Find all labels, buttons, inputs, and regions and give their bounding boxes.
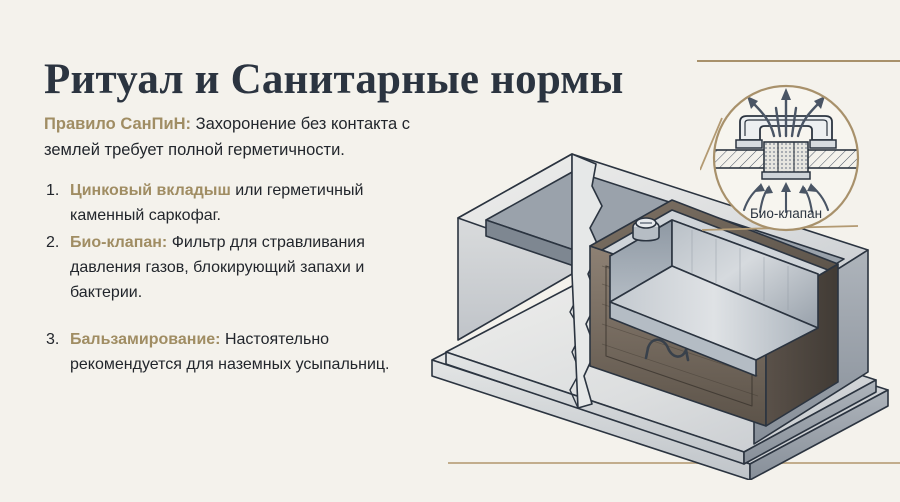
- bio-valve-label: Био-клапан: [750, 206, 822, 221]
- step-term: Цинковый вкладыш: [70, 182, 231, 199]
- valve-filter-cartridge: [762, 142, 810, 179]
- step-term: Био-клапан:: [70, 234, 167, 251]
- intro-lead: Правило СанПиН:: [44, 115, 191, 133]
- step-term: Бальзамирование:: [70, 331, 221, 348]
- list-item: Бальзамирование: Настоятельно рекомендуе…: [44, 328, 420, 378]
- list-item: Цинковый вкладыш или герметичный каменны…: [44, 179, 420, 229]
- bio-valve-detail-callout: Био-клапан: [700, 78, 878, 242]
- list-item: Био-клапан: Фильтр для стравливания давл…: [44, 231, 420, 306]
- slide-canvas: Ритуал и Санитарные нормы Правило СанПиН…: [0, 0, 900, 502]
- steps-list: Цинковый вкладыш или герметичный каменны…: [44, 179, 420, 378]
- bio-valve-fitting: [633, 218, 659, 241]
- text-column: Правило СанПиН: Захоронение без контакта…: [44, 112, 420, 380]
- intro-paragraph: Правило СанПиН: Захоронение без контакта…: [44, 112, 420, 163]
